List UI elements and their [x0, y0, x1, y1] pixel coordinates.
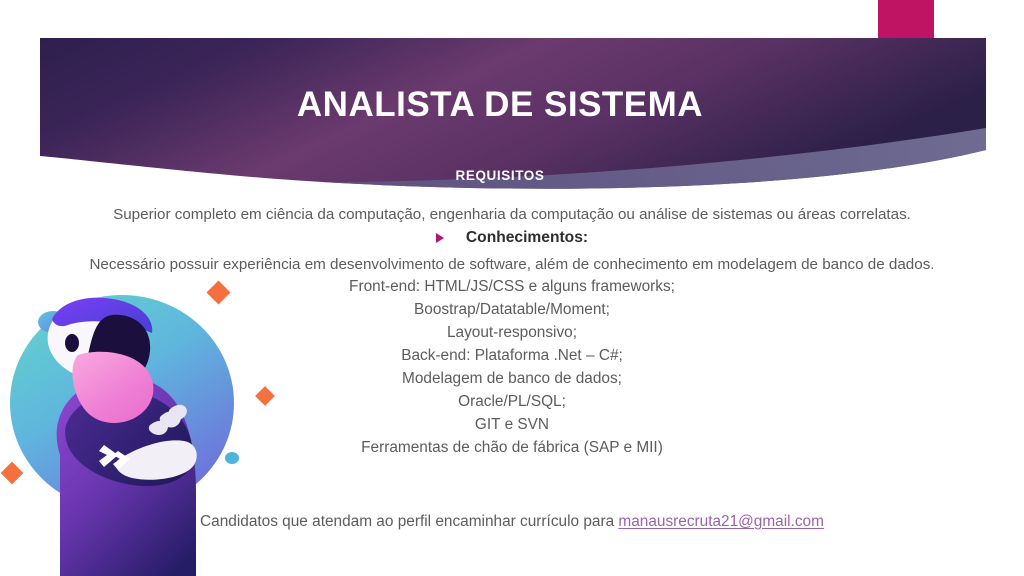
intro-line: Superior completo em ciência da computaç…: [0, 206, 1024, 223]
list-item: Boostrap/Datatable/Moment;: [0, 301, 1024, 319]
slide-canvas: ANALISTA DE SISTEMA REQUISITOS: [0, 0, 1024, 576]
requirement-note-line: Necessário possuir experiência em desenv…: [0, 256, 1024, 273]
knowledge-heading: Conhecimentos:: [466, 229, 588, 247]
list-item: Modelagem de banco de dados;: [0, 370, 1024, 388]
header-banner: ANALISTA DE SISTEMA REQUISITOS: [40, 0, 986, 196]
header-subtitle: REQUISITOS: [40, 168, 960, 183]
page-title: ANALISTA DE SISTEMA: [40, 86, 960, 125]
accent-diamond-3: [1, 462, 24, 485]
list-item: Back-end: Plataforma .Net – C#;: [0, 347, 1024, 365]
list-item: Ferramentas de chão de fábrica (SAP e MI…: [0, 439, 1024, 457]
list-item: Oracle/PL/SQL;: [0, 393, 1024, 411]
email-link[interactable]: manausrecruta21@gmail.com: [618, 513, 824, 530]
list-item: Front-end: HTML/JS/CSS e alguns framewor…: [0, 278, 1024, 296]
triangle-bullet-icon: [436, 233, 444, 243]
contact-prefix: Candidatos que atendam ao perfil encamin…: [200, 513, 618, 530]
list-item: Layout-responsivo;: [0, 324, 1024, 342]
body-text-block: Superior completo em ciência da computaç…: [0, 206, 1024, 457]
knowledge-heading-row: Conhecimentos:: [0, 229, 1024, 247]
list-item: GIT e SVN: [0, 416, 1024, 434]
contact-line: Candidatos que atendam ao perfil encamin…: [0, 513, 1024, 531]
